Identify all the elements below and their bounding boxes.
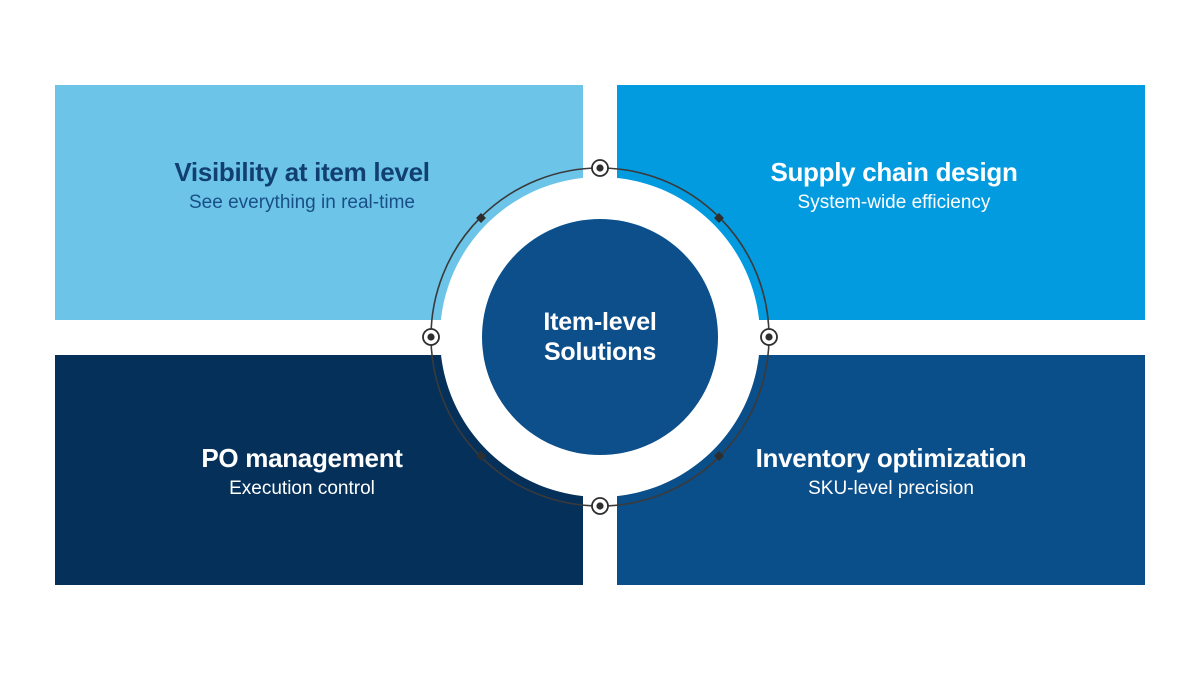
orbit-node-bottom[interactable]: [592, 498, 608, 514]
quadrant-top-right-subtitle: System-wide efficiency: [798, 191, 991, 215]
quadrant-top-left-subtitle: See everything in real-time: [189, 191, 415, 215]
hub-assembly: Item-level Solutions: [440, 177, 760, 497]
orbit-node-right[interactable]: [761, 329, 777, 345]
quadrant-bottom-left-title: PO management: [201, 443, 402, 474]
quadrant-bottom-right-subtitle: SKU-level precision: [808, 477, 974, 501]
hub-label-line-1: Item-level: [543, 307, 656, 338]
orbit-node-top[interactable]: [592, 160, 608, 176]
quadrant-top-left-title: Visibility at item level: [174, 157, 429, 188]
orbit-node-left[interactable]: [423, 329, 439, 345]
quadrant-bottom-left-subtitle: Execution control: [229, 477, 375, 501]
quadrant-top-right-title: Supply chain design: [770, 157, 1017, 188]
diagram-canvas: Visibility at item level See everything …: [0, 0, 1200, 675]
quadrant-bottom-right-title: Inventory optimization: [756, 443, 1027, 474]
hub-circle[interactable]: Item-level Solutions: [482, 219, 718, 455]
hub-label-line-2: Solutions: [544, 337, 656, 368]
